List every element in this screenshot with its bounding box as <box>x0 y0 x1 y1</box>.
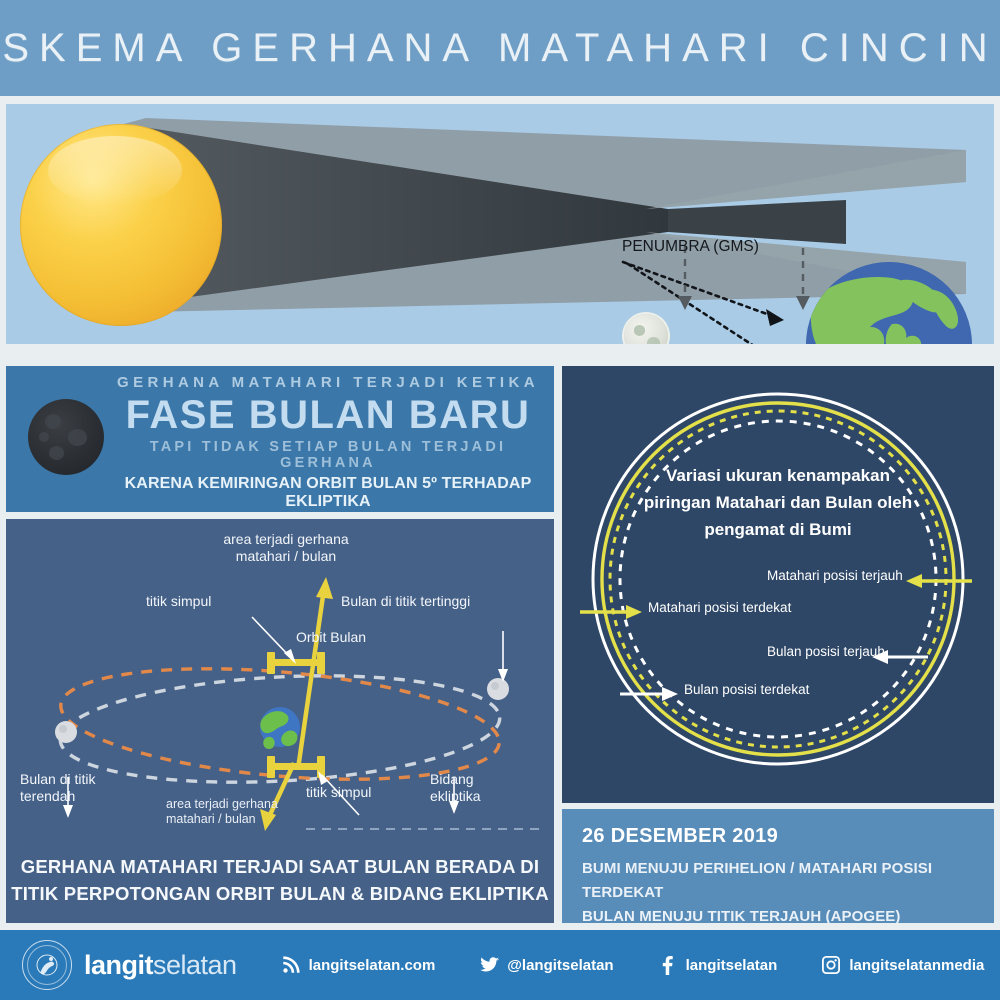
node-bottom-label: titik simpul <box>306 784 371 801</box>
node-top-label: titik simpul <box>146 593 211 610</box>
apparent-size-panel: Variasi ukuran kenampakan piringan Matah… <box>562 366 994 803</box>
brand-block[interactable]: langitselatan <box>22 940 237 990</box>
facebook-label: langitselatan <box>686 957 778 974</box>
moon-orbit-panel: area terjadi gerhana matahari / bulan ti… <box>6 519 554 923</box>
penumbra-label: PENUMBRA (GMS) <box>622 238 759 256</box>
twitter-icon <box>479 955 499 975</box>
social-links: langitselatan.com @langitselatan langits… <box>237 955 985 975</box>
brand-light: selatan <box>153 950 237 980</box>
ecliptic-plane-label: Bidang ekliptika <box>430 771 481 805</box>
social-link-twitter[interactable]: @langitselatan <box>479 955 613 975</box>
fase-line-1: GERHANA MATAHARI TERJADI KETIKA <box>110 374 546 391</box>
eclipse-area-bottom-label: area terjadi gerhana matahari / bulan <box>166 797 278 827</box>
fase-line-4: KARENA KEMIRINGAN ORBIT BULAN 5º TERHADA… <box>110 475 546 511</box>
instagram-icon <box>821 955 841 975</box>
brand-bold: langit <box>84 950 153 980</box>
event-date-panel: 26 DESEMBER 2019 BUMI MENUJU PERIHELION … <box>562 809 994 923</box>
moon-nearest-label: Bulan posisi terdekat <box>684 682 809 697</box>
instagram-label: langitselatanmedia <box>849 957 984 974</box>
moon-farthest-label: Bulan posisi terjauh <box>767 644 885 659</box>
sun-nearest-label: Matahari posisi terdekat <box>648 600 791 615</box>
event-notes: BUMI MENUJU PERIHELION / MATAHARI POSISI… <box>582 857 994 923</box>
new-moon-phase-panel: GERHANA MATAHARI TERJADI KETIKA FASE BUL… <box>6 366 554 512</box>
fase-text-block: GERHANA MATAHARI TERJADI KETIKA FASE BUL… <box>110 374 546 511</box>
social-link-facebook[interactable]: langitselatan <box>658 955 778 975</box>
langitselatan-seal-icon <box>22 940 72 990</box>
website-label: langitselatan.com <box>309 957 436 974</box>
twitter-label: @langitselatan <box>507 957 613 974</box>
header-bar: SKEMA GERHANA MATAHARI CINCIN <box>0 0 1000 96</box>
sun-farthest-label: Matahari posisi terjauh <box>767 568 903 583</box>
event-date: 26 DESEMBER 2019 <box>582 825 778 848</box>
moon-orbit-label: Orbit Bulan <box>296 629 366 646</box>
rss-icon <box>281 955 301 975</box>
new-moon-icon <box>28 399 104 475</box>
sun-sphere <box>20 124 222 326</box>
facebook-icon <box>658 955 678 975</box>
footer-bar: langitselatan langitselatan.com <box>0 930 1000 1000</box>
moon-lowest-label: Bulan di titik terendah <box>20 771 95 805</box>
orbit-footer-caption: GERHANA MATAHARI TERJADI SAAT BULAN BERA… <box>6 853 554 907</box>
moon-highest-label: Bulan di titik tertinggi <box>341 593 470 610</box>
social-link-website[interactable]: langitselatan.com <box>281 955 436 975</box>
fase-line-3: TAPI TIDAK SETIAP BULAN TERJADI GERHANA <box>110 439 546 471</box>
eclipse-geometry-panel: PENUMBRA (GMS) UMBRA (GMT) ANTUMBRA (GMC… <box>6 104 994 344</box>
infographic-page: SKEMA GERHANA MATAHARI CINCIN <box>0 0 1000 1000</box>
social-link-instagram[interactable]: langitselatanmedia <box>821 955 984 975</box>
brand-wordmark: langitselatan <box>84 950 237 981</box>
fase-headline: FASE BULAN BARU <box>110 393 546 437</box>
apparent-size-title: Variasi ukuran kenampakan piringan Matah… <box>608 462 948 543</box>
apparent-size-circles <box>562 366 994 803</box>
eclipse-area-top-label: area terjadi gerhana matahari / bulan <box>186 531 386 565</box>
earth-globe <box>806 262 972 344</box>
page-title: SKEMA GERHANA MATAHARI CINCIN <box>2 26 997 71</box>
